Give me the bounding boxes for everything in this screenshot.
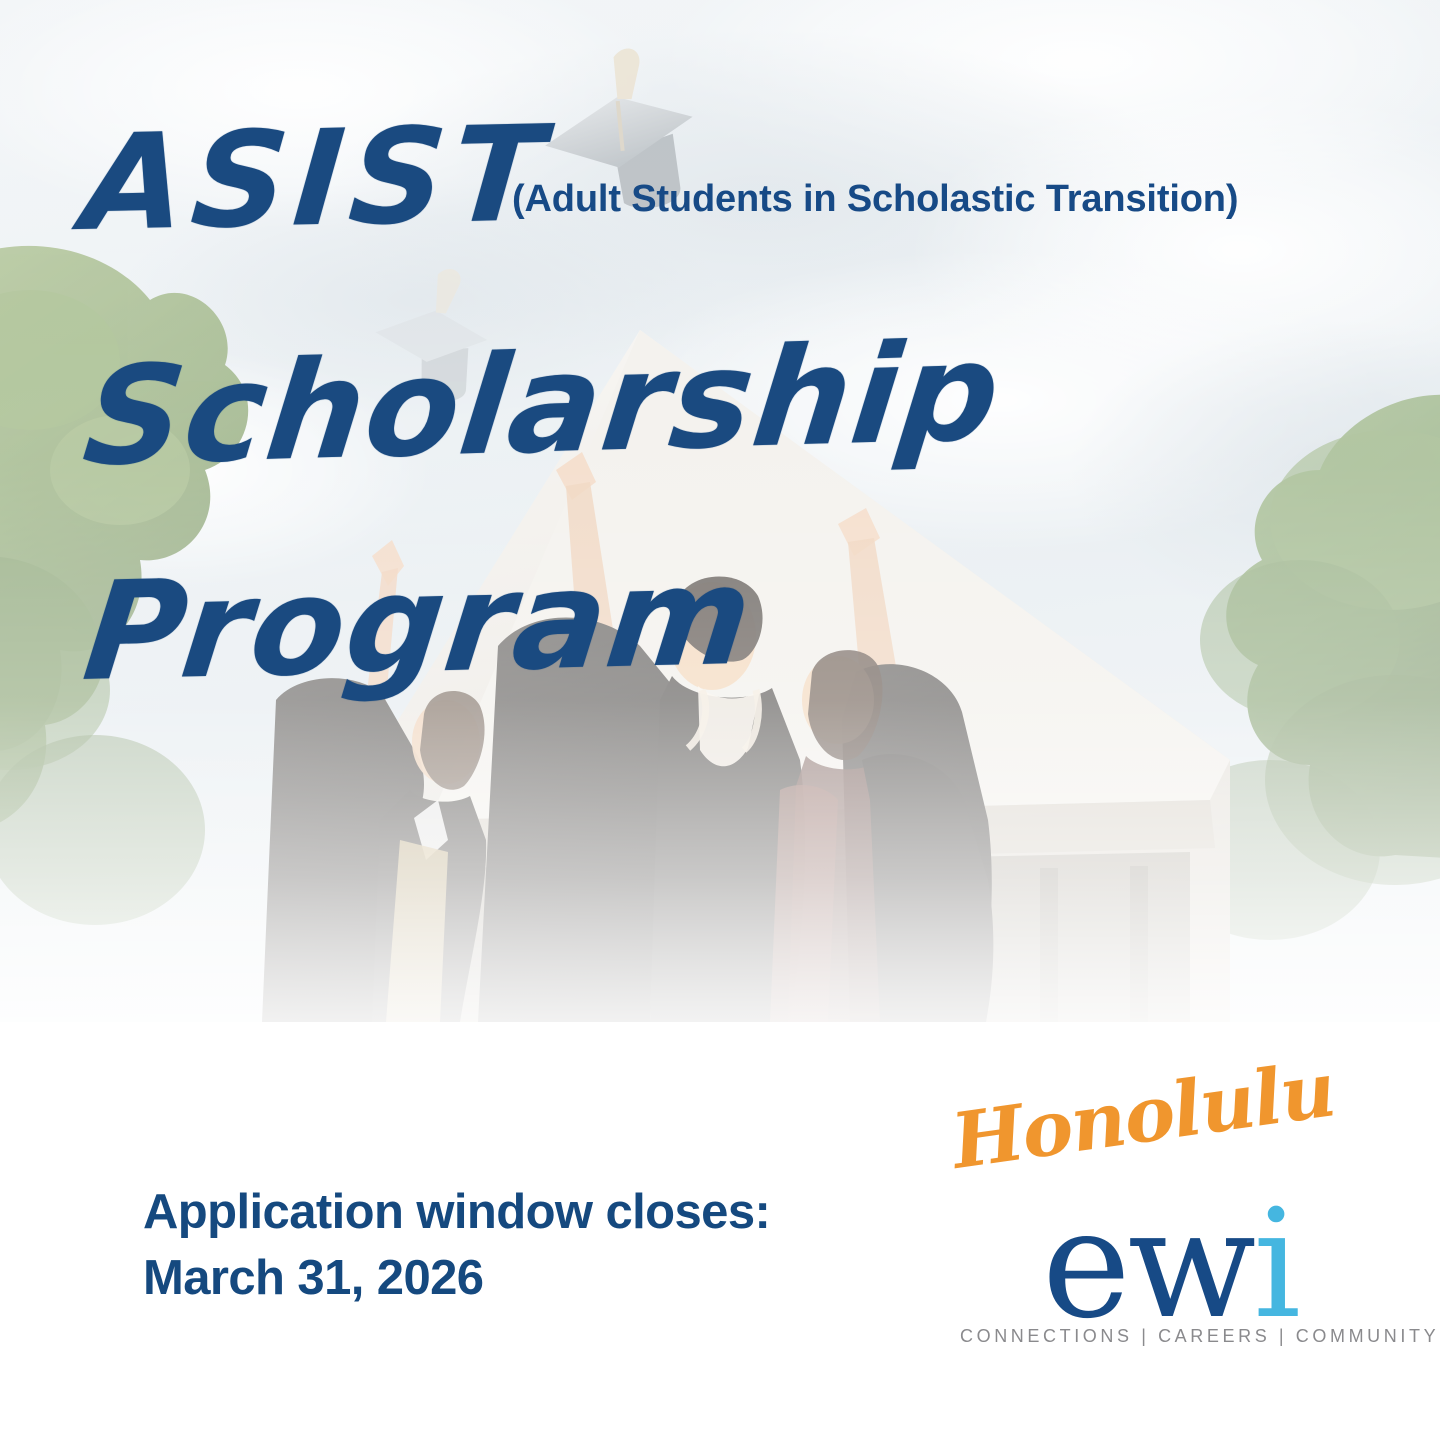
photo-bottom-fade — [0, 700, 1440, 1022]
graduation-photo-illustration — [0, 0, 1440, 1022]
poster-canvas: ASIST (Adult Students in Scholastic Tran… — [0, 0, 1440, 1440]
deadline-date: March 31, 2026 — [143, 1246, 770, 1312]
hero-photo — [0, 0, 1440, 1022]
ewi-honolulu-logo: Honolulu ewi CONNECTIONS | CAREERS | COM… — [950, 1104, 1370, 1394]
logo-tagline: CONNECTIONS | CAREERS | COMMUNITY — [960, 1326, 1360, 1347]
logo-wordmark-ewi: ewi — [1042, 1190, 1298, 1340]
application-deadline: Application window closes: March 31, 202… — [143, 1180, 770, 1311]
deadline-label: Application window closes: — [143, 1180, 770, 1246]
